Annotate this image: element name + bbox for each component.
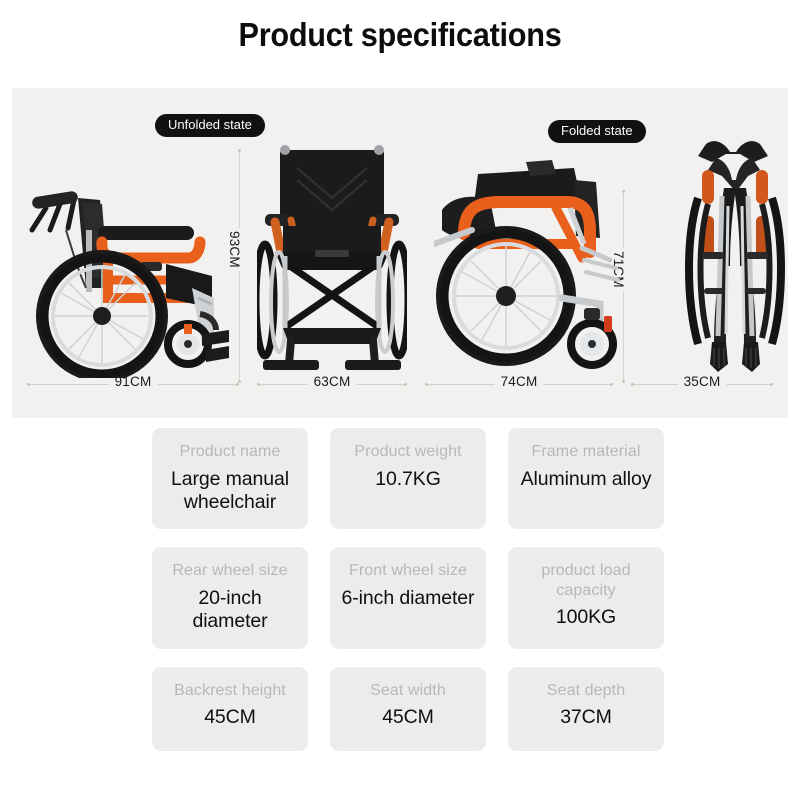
spec-card-front-wheel-size: Front wheel size 6-inch diameter — [330, 547, 486, 648]
wheelchair-front-view-folded — [680, 136, 790, 378]
spec-card-product-name: Product name Large manual wheelchair — [152, 428, 308, 529]
spec-card-product-weight: Product weight 10.7KG — [330, 428, 486, 529]
spec-label: Seat width — [370, 681, 446, 701]
spec-value: 45CM — [204, 706, 256, 729]
spec-card-frame-material: Frame material Aluminum alloy — [508, 428, 664, 529]
spec-label: Backrest height — [174, 681, 286, 701]
spec-card-seat-width: Seat width 45CM — [330, 667, 486, 751]
specification-grid: Product name Large manual wheelchair Pro… — [152, 428, 664, 751]
spec-label: Product name — [180, 442, 281, 462]
product-diagram-panel: Unfolded state Folded state 93CM 71CM 91… — [12, 88, 788, 418]
spec-label: Frame material — [532, 442, 641, 462]
spec-value: 10.7KG — [375, 468, 441, 491]
spec-card-rear-wheel-size: Rear wheel size 20-inch diameter — [152, 547, 308, 648]
unfolded-state-badge: Unfolded state — [155, 114, 265, 137]
spec-value: 6-inch diameter — [342, 587, 475, 610]
wheelchair-side-view-unfolded — [16, 138, 231, 378]
spec-value: 20-inch diameter — [160, 587, 300, 634]
spec-card-product-load-capacity: product load capacity 100KG — [508, 547, 664, 648]
page-title: Product specifications — [28, 0, 772, 54]
spec-label: Rear wheel size — [172, 561, 287, 581]
spec-card-backrest-height: Backrest height 45CM — [152, 667, 308, 751]
wheelchair-front-view-unfolded — [257, 140, 407, 378]
spec-value: 37CM — [560, 706, 612, 729]
spec-value: Aluminum alloy — [521, 468, 652, 491]
spec-label: product load capacity — [516, 561, 656, 600]
spec-label: Front wheel size — [349, 561, 467, 581]
spec-value: 45CM — [382, 706, 434, 729]
wheelchair-side-view-folded — [434, 148, 624, 378]
spec-value: Large manual wheelchair — [160, 468, 300, 515]
spec-label: Product weight — [354, 442, 461, 462]
folded-state-badge: Folded state — [548, 120, 646, 143]
spec-label: Seat depth — [547, 681, 625, 701]
spec-value: 100KG — [556, 606, 616, 629]
spec-card-seat-depth: Seat depth 37CM — [508, 667, 664, 751]
